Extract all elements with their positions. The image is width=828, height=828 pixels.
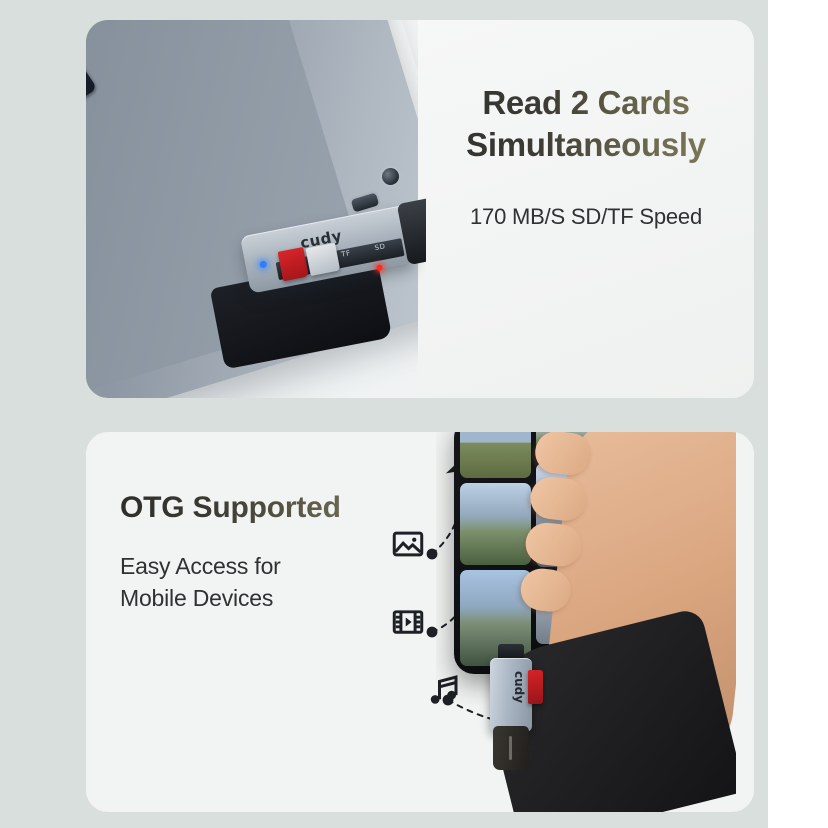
gallery-tile	[460, 483, 531, 565]
status-led-icon	[259, 260, 267, 268]
bottom-subheadline-line1: Easy Access for	[120, 553, 281, 579]
photo-icon	[391, 527, 425, 561]
product-feature-canvas: Delete delete / cudy TF SD	[0, 0, 828, 828]
bottom-subheadline: Easy Access for Mobile Devices	[120, 550, 420, 615]
bottom-panel-copy: OTG Supported Easy Access for Mobile Dev…	[120, 466, 420, 638]
microsd-card	[278, 247, 309, 281]
bottom-headline: OTG Supported	[120, 491, 420, 525]
reader-brand-label-vertical: cudy	[512, 671, 526, 703]
video-icon	[391, 605, 425, 639]
laptop-product-photo: Delete delete / cudy TF SD	[86, 20, 426, 398]
hand-phone-photo: cudy	[436, 432, 736, 812]
usb-a-connector-tip	[493, 726, 529, 770]
top-headline: Read 2 Cards Simultaneously	[466, 82, 706, 166]
sd-card	[305, 243, 340, 276]
feature-icon-list	[380, 527, 436, 639]
card-reader-vertical: cudy	[488, 652, 534, 772]
bottom-subheadline-line2: Mobile Devices	[120, 585, 273, 611]
bottom-feature-panel: OTG Supported Easy Access for Mobile Dev…	[86, 432, 754, 812]
usb-a-slit	[509, 736, 512, 760]
top-headline-line1: Read 2 Cards	[482, 84, 689, 121]
gallery-tile	[460, 432, 531, 478]
top-headline-line2: Simultaneously	[466, 126, 706, 163]
microsd-card-vertical	[528, 670, 543, 704]
top-feature-panel: Delete delete / cudy TF SD	[86, 20, 754, 398]
reader-housing-vertical: cudy	[490, 658, 532, 732]
activity-led-icon	[376, 264, 383, 271]
top-subheadline: 170 MB/S SD/TF Speed	[470, 204, 702, 230]
power-fingerprint-icon	[86, 55, 97, 117]
top-panel-copy: Read 2 Cards Simultaneously 170 MB/S SD/…	[418, 20, 754, 398]
right-margin	[768, 0, 828, 828]
